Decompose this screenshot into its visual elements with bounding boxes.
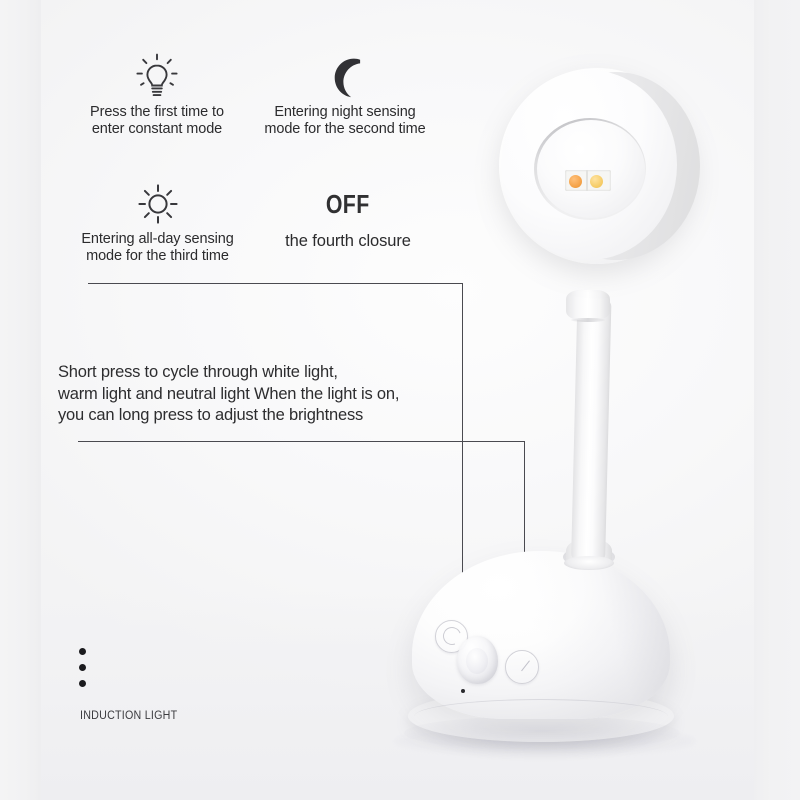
led-chip-neutral <box>590 175 603 188</box>
motion-sensor-lens <box>466 648 488 674</box>
led-module <box>565 170 611 191</box>
indicator-led-icon <box>461 689 465 693</box>
lamp-head-lens <box>537 120 645 218</box>
product-infographic: Press the first time to enter constant m… <box>0 0 800 800</box>
induction-lamp-product <box>0 0 800 800</box>
gooseneck-seam <box>571 318 605 322</box>
led-divider <box>586 170 588 191</box>
base-seam-line <box>414 699 668 734</box>
power-button[interactable] <box>505 650 539 684</box>
gooseneck-stem[interactable] <box>571 296 612 565</box>
gooseneck-foot-ring <box>564 556 614 570</box>
gooseneck-collar <box>566 290 610 320</box>
led-chip-warm <box>569 175 582 188</box>
